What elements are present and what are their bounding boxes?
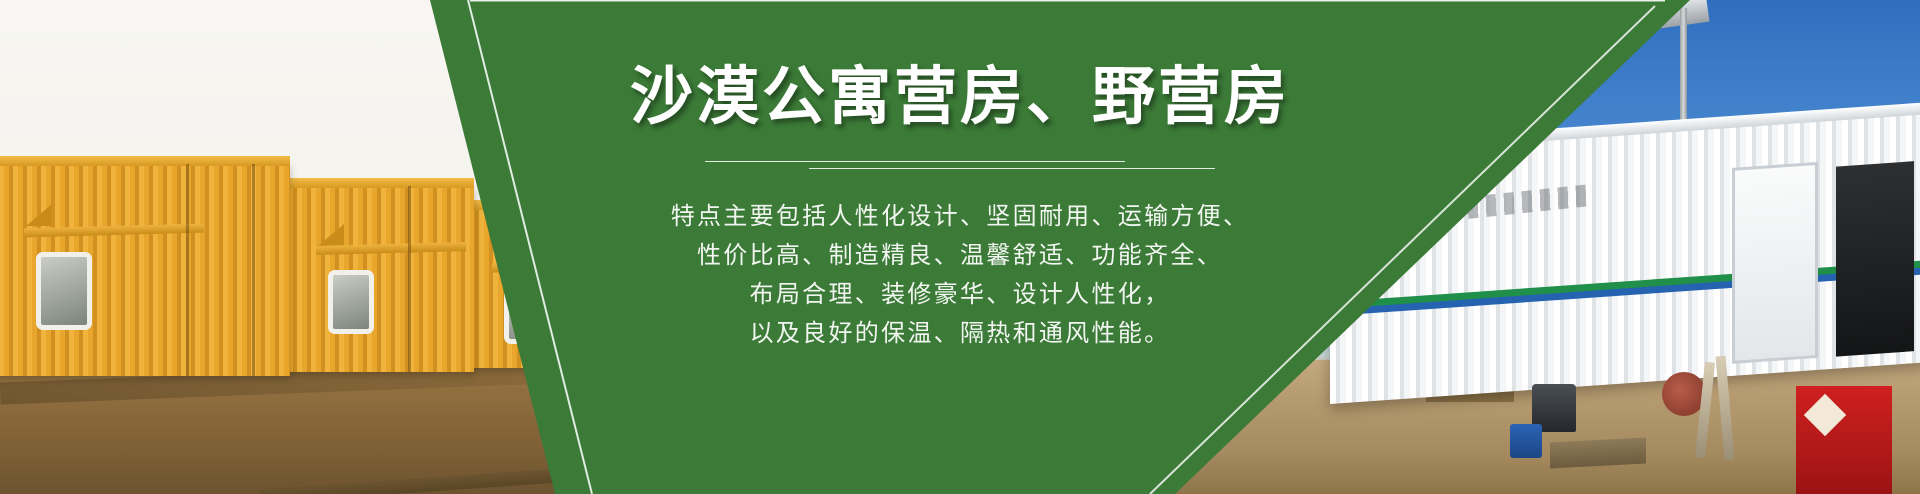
promo-banner: 沙漠公寓营房、野营房 特点主要包括人性化设计、坚固耐用、运输方便、 性价比高、制… bbox=[0, 0, 1920, 494]
container-window bbox=[36, 252, 92, 330]
container-roof bbox=[288, 178, 474, 188]
yellow-container-1 bbox=[0, 164, 290, 376]
container-seam bbox=[252, 164, 255, 376]
container-seam bbox=[408, 186, 411, 372]
fire-cabinet-label bbox=[1804, 394, 1846, 436]
building-door bbox=[1732, 162, 1818, 364]
container-window bbox=[328, 270, 374, 334]
container-roof bbox=[0, 156, 290, 166]
wooden-bench bbox=[1550, 437, 1646, 468]
building-color-stripe bbox=[1330, 260, 1920, 316]
container-bracket bbox=[318, 224, 344, 246]
building-open-doorway bbox=[1836, 161, 1914, 356]
container-bracket bbox=[26, 204, 52, 226]
container-seam bbox=[186, 164, 189, 376]
red-fire-cabinet bbox=[1796, 386, 1892, 494]
yellow-container-2 bbox=[288, 186, 474, 372]
blue-bucket bbox=[1510, 424, 1542, 458]
